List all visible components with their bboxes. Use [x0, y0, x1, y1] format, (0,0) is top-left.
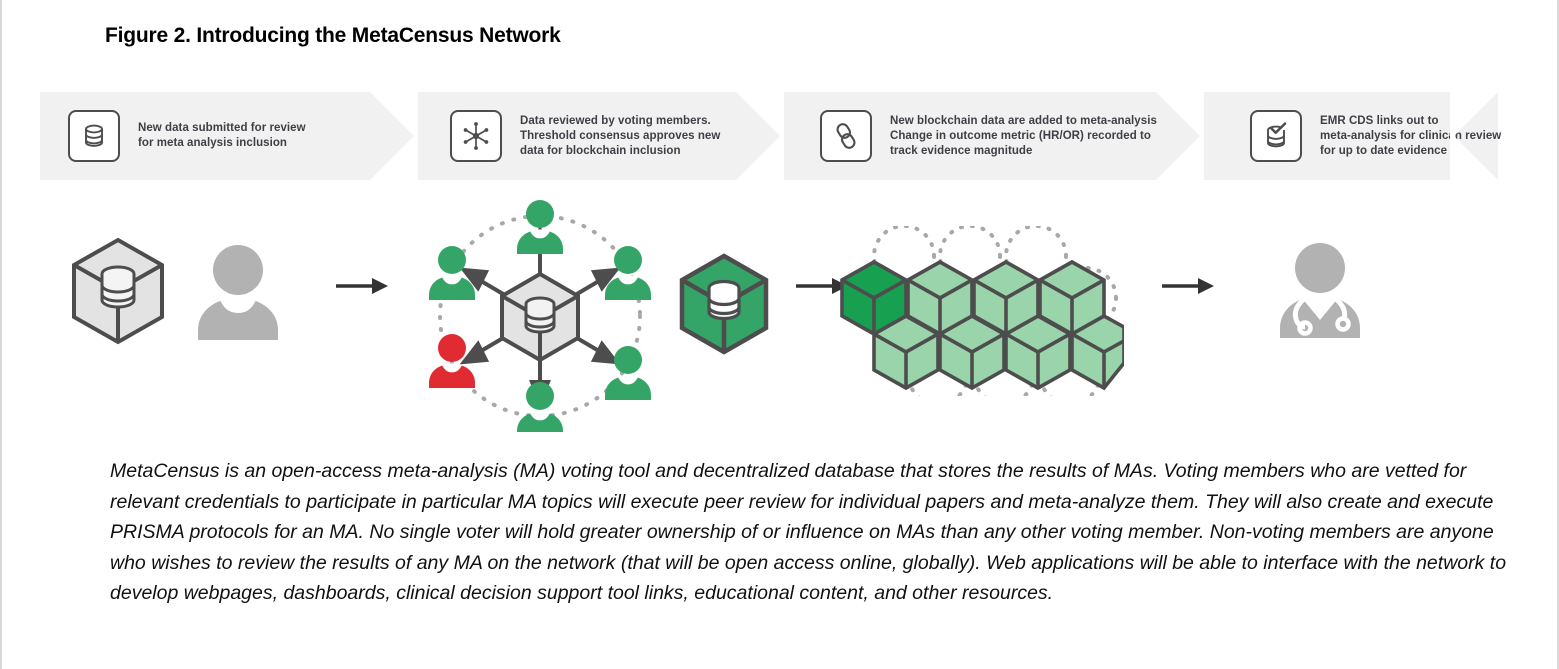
page-title: Figure 2. Introducing the MetaCensus Net… [105, 24, 561, 48]
process-banner: New data submitted for review for meta a… [40, 92, 1498, 180]
step-line: meta-analysis for clinican review [1320, 129, 1501, 144]
banner-step-3-text: New blockchain data are added to meta-an… [890, 114, 1157, 159]
step-line: data for blockchain inclusion [520, 144, 720, 159]
flow-arrow-1 [334, 274, 390, 303]
step-line: Change in outcome metric (HR/OR) recorde… [890, 129, 1157, 144]
banner-step-4-text: EMR CDS links out to meta-analysis for c… [1320, 114, 1501, 159]
voting-network [420, 200, 660, 437]
step-line: for meta analysis inclusion [138, 136, 306, 151]
submitting-user [186, 244, 290, 345]
step-line: Data reviewed by voting members. [520, 114, 720, 129]
figure-caption: MetaCensus is an open-access meta-analys… [110, 456, 1508, 609]
chain-link-icon [820, 110, 872, 162]
green-data-cube [676, 252, 772, 361]
clinician [1266, 242, 1374, 347]
banner-step-1-text: New data submitted for review for meta a… [138, 121, 306, 151]
step-line: track evidence magnitude [890, 144, 1157, 159]
banner-step-1[interactable]: New data submitted for review for meta a… [40, 92, 418, 180]
blockchain-cluster [828, 226, 1124, 401]
step-line: New blockchain data are added to meta-an… [890, 114, 1157, 129]
step-line: Threshold consensus approves new [520, 129, 720, 144]
banner-step-2[interactable]: Data reviewed by voting members. Thresho… [418, 92, 784, 180]
banner-step-3[interactable]: New blockchain data are added to meta-an… [784, 92, 1204, 180]
database-check-icon [1250, 110, 1302, 162]
step-line: New data submitted for review [138, 121, 306, 136]
database-stack-icon [68, 110, 120, 162]
network-illustration [0, 196, 1559, 436]
banner-step-2-text: Data reviewed by voting members. Thresho… [520, 114, 720, 159]
flow-arrow-3 [1160, 274, 1216, 303]
network-hub-icon [450, 110, 502, 162]
gray-data-cube [68, 236, 168, 351]
